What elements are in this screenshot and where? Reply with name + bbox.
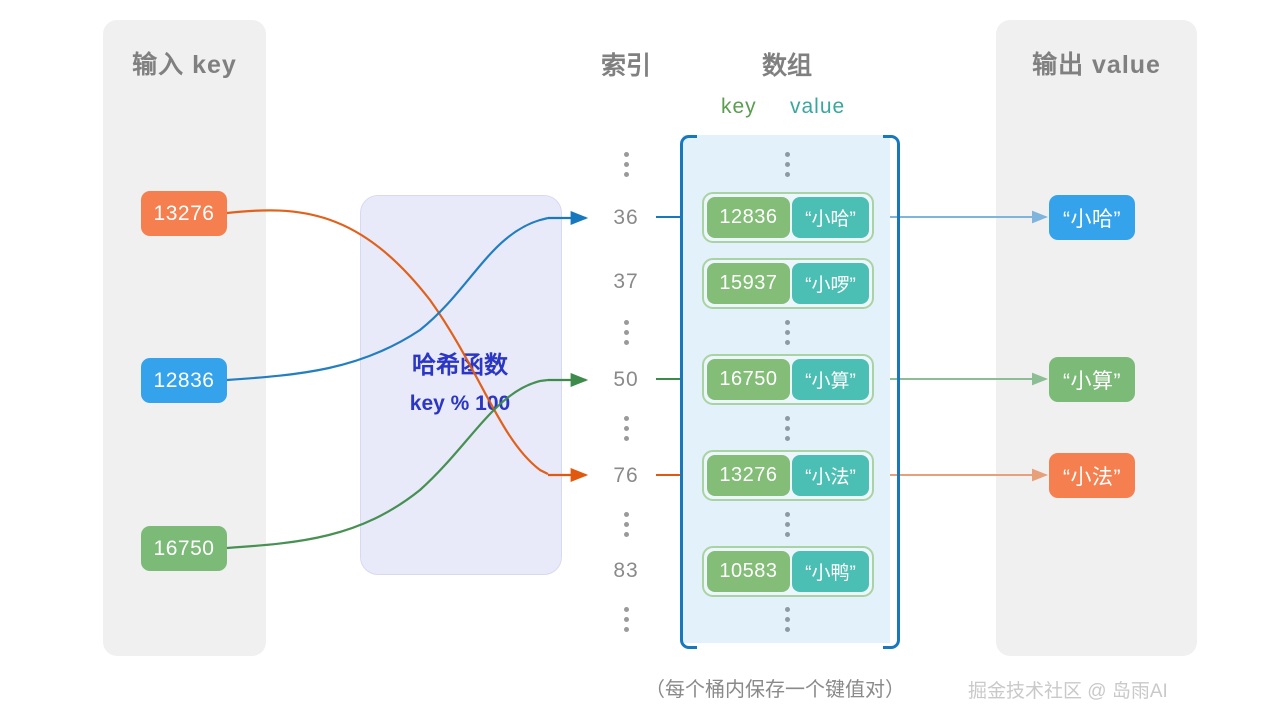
diagram-canvas: 输入 key 输出 value 哈希函数 key % 100 — [0, 0, 1280, 720]
array-column-heading: 数组 — [742, 46, 832, 82]
hash-function-title: 哈希函数 — [360, 345, 560, 380]
bucket-value: “小法” — [792, 455, 869, 496]
array-bracket-right — [883, 135, 900, 649]
figure-caption: （每个桶内保存一个键值对） — [645, 673, 905, 702]
input-panel-title: 输入 key — [103, 45, 266, 81]
array-ellipsis — [782, 320, 792, 350]
output-value-chip[interactable]: “小算” — [1049, 357, 1135, 402]
array-ellipsis — [782, 512, 792, 542]
bucket[interactable]: 10583 “小鸭” — [702, 546, 874, 597]
bucket-key: 13276 — [707, 455, 790, 496]
index-ellipsis — [621, 320, 631, 350]
hash-function-box — [360, 195, 562, 575]
array-value-heading: value — [790, 95, 845, 119]
bucket-key: 15937 — [707, 263, 790, 304]
bucket-key: 12836 — [707, 197, 790, 238]
bucket[interactable]: 15937 “小啰” — [702, 258, 874, 309]
output-value-chip[interactable]: “小法” — [1049, 453, 1135, 498]
array-ellipsis — [782, 607, 792, 637]
watermark: 掘金技术社区 @ 岛雨AI — [968, 676, 1168, 703]
bucket-key: 10583 — [707, 551, 790, 592]
output-panel — [996, 20, 1197, 656]
index-ellipsis — [621, 152, 631, 182]
bucket[interactable]: 13276 “小法” — [702, 450, 874, 501]
index-ellipsis — [621, 416, 631, 446]
index-label: 76 — [601, 464, 651, 488]
index-ellipsis — [621, 607, 631, 637]
input-key-chip[interactable]: 13276 — [141, 191, 227, 236]
array-ellipsis — [782, 152, 792, 182]
array-ellipsis — [782, 416, 792, 446]
array-bracket-left — [680, 135, 697, 649]
bucket[interactable]: 12836 “小哈” — [702, 192, 874, 243]
index-label: 50 — [601, 368, 651, 392]
bucket[interactable]: 16750 “小算” — [702, 354, 874, 405]
bucket-value: “小啰” — [792, 263, 869, 304]
bucket-key: 16750 — [707, 359, 790, 400]
input-key-chip[interactable]: 12836 — [141, 358, 227, 403]
bucket-value: “小算” — [792, 359, 869, 400]
output-panel-title: 输出 value — [996, 45, 1197, 81]
index-label: 83 — [601, 559, 651, 583]
index-label: 36 — [601, 206, 651, 230]
bucket-value: “小鸭” — [792, 551, 869, 592]
index-column-heading: 索引 — [581, 46, 671, 82]
array-key-heading: key — [721, 95, 757, 119]
hash-function-formula: key % 100 — [360, 392, 560, 416]
index-ellipsis — [621, 512, 631, 542]
index-label: 37 — [601, 270, 651, 294]
bucket-value: “小哈” — [792, 197, 869, 238]
output-value-chip[interactable]: “小哈” — [1049, 195, 1135, 240]
input-key-chip[interactable]: 16750 — [141, 526, 227, 571]
